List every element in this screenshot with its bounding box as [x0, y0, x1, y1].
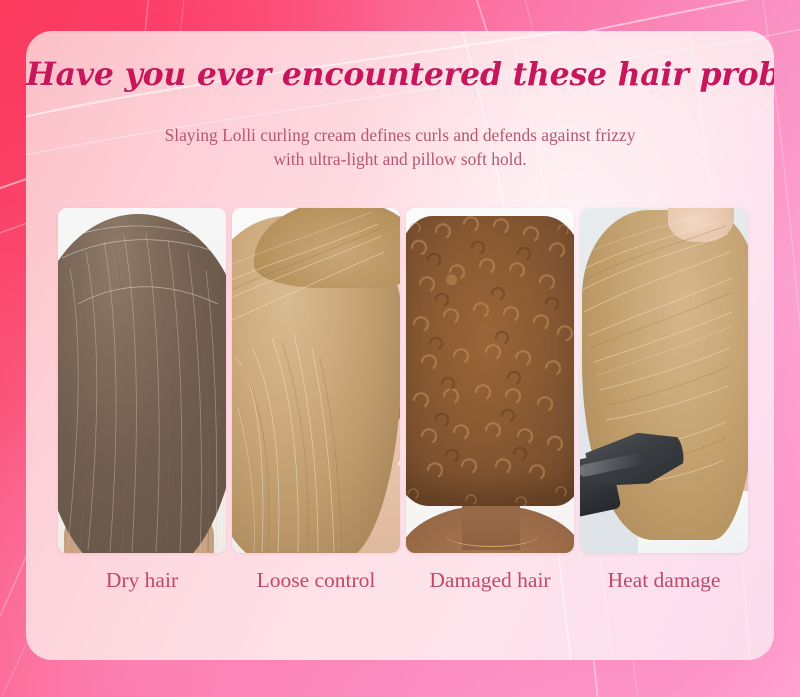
problem-image-gallery [58, 208, 748, 553]
content-card: Have you ever encountered these hair pro… [26, 31, 774, 660]
hair-strand-lines [232, 208, 400, 553]
page-title: Have you ever encountered these hair pro… [26, 56, 774, 93]
label-dry-hair: Dry hair [58, 565, 226, 607]
promo-poster: Have you ever encountered these hair pro… [0, 0, 800, 697]
photo-dry-hair [58, 208, 226, 553]
problem-image-dry-hair [58, 208, 226, 553]
subtitle: Slaying Lolli curling cream defines curl… [96, 123, 704, 171]
label-heat-damage: Heat damage [580, 565, 748, 607]
problem-image-damaged-hair [406, 208, 574, 553]
label-damaged-hair: Damaged hair [406, 565, 574, 607]
hair-strand-lines [58, 208, 226, 553]
photo-damaged-hair [406, 208, 574, 553]
curl-texture [406, 208, 574, 553]
subtitle-line-1: Slaying Lolli curling cream defines curl… [165, 125, 636, 145]
photo-heat-damage [580, 208, 748, 553]
subtitle-line-2: with ultra-light and pillow soft hold. [273, 149, 526, 169]
label-loose-control: Loose control [232, 565, 400, 607]
problem-image-heat-damage [580, 208, 748, 553]
problem-image-loose-control [232, 208, 400, 553]
photo-loose-control [232, 208, 400, 553]
problem-labels: Dry hair Loose control Damaged hair Heat… [58, 565, 748, 607]
